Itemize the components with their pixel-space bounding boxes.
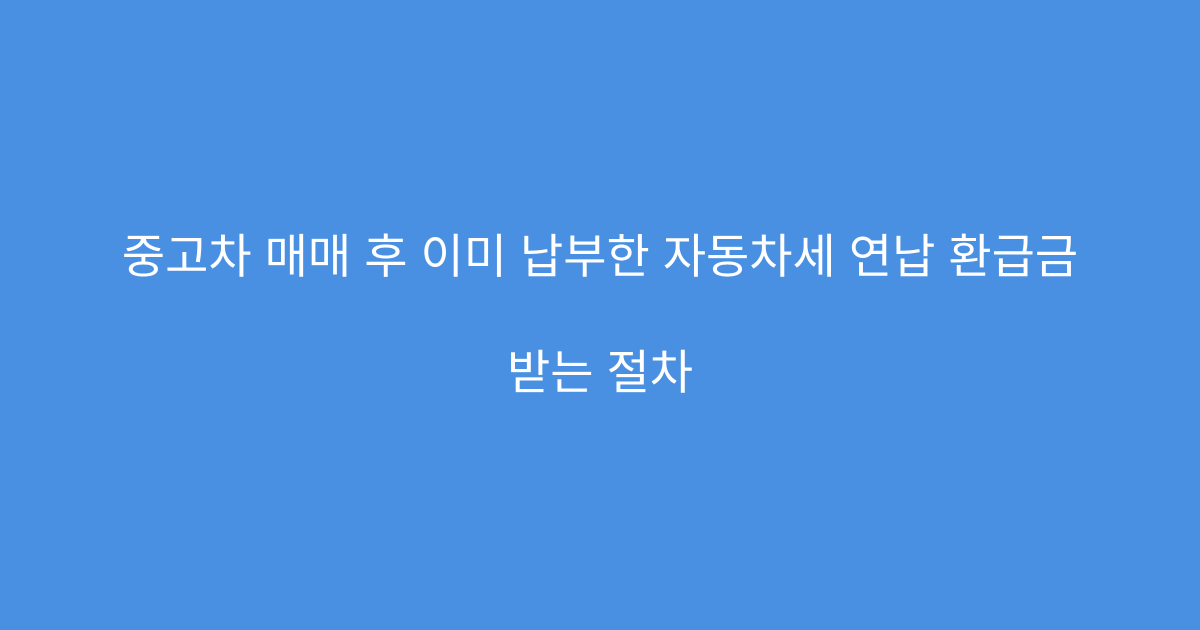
page-title: 중고차 매매 후 이미 납부한 자동차세 연납 환급금 받는 절차 bbox=[70, 170, 1130, 460]
og-card: 중고차 매매 후 이미 납부한 자동차세 연납 환급금 받는 절차 bbox=[0, 0, 1200, 630]
page-title-line-2: 받는 절차 bbox=[70, 344, 1130, 402]
page-title-line-1: 중고차 매매 후 이미 납부한 자동차세 연납 환급금 bbox=[70, 228, 1130, 286]
title-block: 중고차 매매 후 이미 납부한 자동차세 연납 환급금 받는 절차 bbox=[0, 170, 1200, 460]
